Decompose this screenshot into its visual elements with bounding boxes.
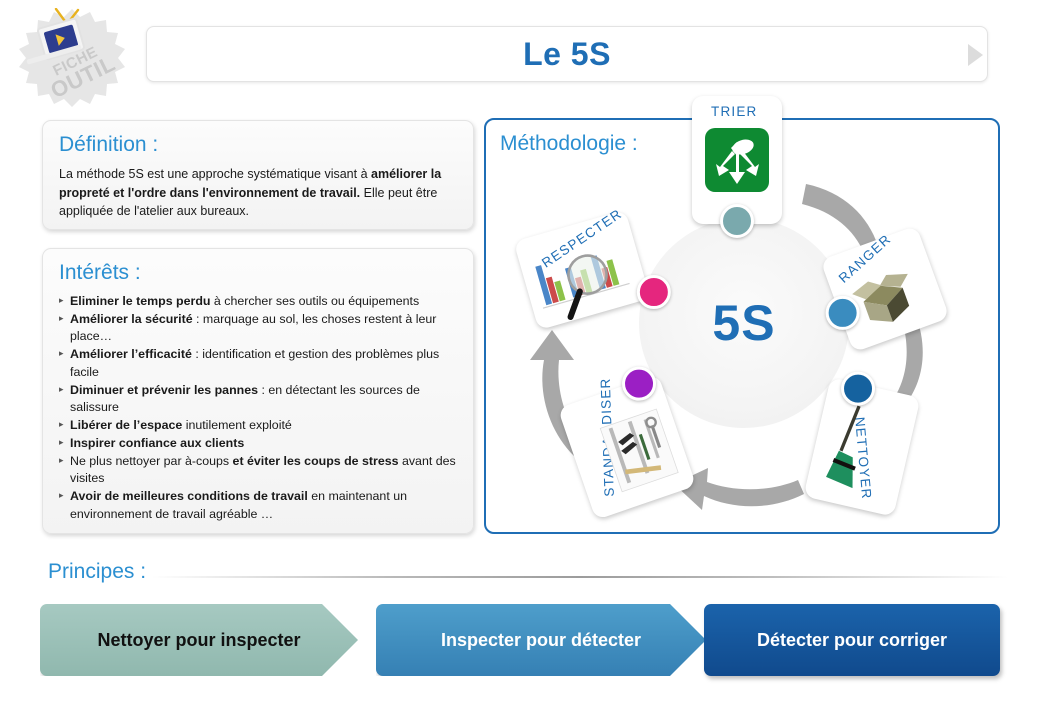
next-arrow-icon[interactable] [968, 44, 983, 66]
step-label: TRIER [711, 104, 758, 119]
definition-text-a: La méthode 5S est une approche systémati… [59, 167, 371, 181]
step-card: TRIER [692, 96, 782, 224]
principles-divider [152, 576, 1008, 578]
step-dot [841, 372, 875, 406]
step-trier[interactable]: TRIER [692, 96, 782, 224]
item-bold: Eliminer le temps perdu [70, 294, 210, 308]
principles-heading: Principes : [48, 560, 146, 584]
principles-chevrons: Nettoyer pour inspecter Inspecter pour d… [40, 604, 1000, 678]
principle-step-3[interactable]: Détecter pour corriger [704, 604, 1000, 676]
principle-step-1[interactable]: Nettoyer pour inspecter [40, 604, 358, 676]
definition-heading: Définition : [59, 133, 457, 157]
page-title: Le 5S [523, 36, 611, 73]
interests-heading: Intérêts : [59, 261, 457, 285]
definition-text: La méthode 5S est une approche systémati… [59, 165, 457, 221]
five-s-cycle-diagram: 5S TRIER [486, 120, 1002, 536]
list-item: Améliorer l’efficacité : identification … [59, 346, 457, 381]
title-bar: Le 5S [146, 26, 988, 82]
step-dot [622, 367, 656, 401]
step-dot [720, 204, 754, 238]
principle-step-1-label: Nettoyer pour inspecter [87, 630, 310, 651]
list-item: Diminuer et prévenir les pannes : en dét… [59, 382, 457, 417]
item-rest: inutilement exploité [182, 418, 292, 432]
page-root: FICHE OUTIL Le 5S Définition : La méthod… [0, 0, 1040, 720]
interests-list: Eliminer le temps perdu à chercher ses o… [59, 293, 457, 524]
list-item: Améliorer la sécurité : marquage au sol,… [59, 311, 457, 346]
item-bold: Inspirer confiance aux clients [70, 436, 244, 450]
principle-step-2-label: Inspecter pour détecter [431, 630, 651, 651]
cycle-hub: 5S [639, 218, 849, 428]
list-item: Libérer de l’espace inutilement exploité [59, 417, 457, 435]
list-item: Ne plus nettoyer par à-coups et éviter l… [59, 453, 457, 488]
principle-step-3-label: Détecter pour corriger [747, 630, 957, 651]
item-bold: Libérer de l’espace [70, 418, 182, 432]
fiche-outil-badge: FICHE OUTIL [18, 6, 126, 114]
principle-step-2[interactable]: Inspecter pour détecter [376, 604, 706, 676]
list-item: Eliminer le temps perdu à chercher ses o… [59, 293, 457, 311]
item-bold: Avoir de meilleures conditions de travai… [70, 489, 308, 503]
item-rest: Ne plus nettoyer par à-coups [70, 454, 233, 468]
sorting-arrows-icon [705, 128, 769, 192]
item-bold: Diminuer et prévenir les pannes [70, 383, 258, 397]
item-rest: à chercher ses outils ou équipements [210, 294, 419, 308]
item-bold: et éviter les coups de stress [233, 454, 399, 468]
step-dot [826, 296, 860, 330]
step-dot [637, 275, 671, 309]
list-item: Avoir de meilleures conditions de travai… [59, 488, 457, 523]
item-bold: Améliorer la sécurité [70, 312, 193, 326]
list-item: Inspirer confiance aux clients [59, 435, 457, 453]
definition-card: Définition : La méthode 5S est une appro… [42, 120, 474, 230]
methodology-panel: Méthodologie : 5S TRIER [484, 118, 1000, 534]
interests-card: Intérêts : Eliminer le temps perdu à che… [42, 248, 474, 534]
item-bold: Améliorer l’efficacité [70, 347, 192, 361]
hub-label: 5S [639, 218, 849, 428]
